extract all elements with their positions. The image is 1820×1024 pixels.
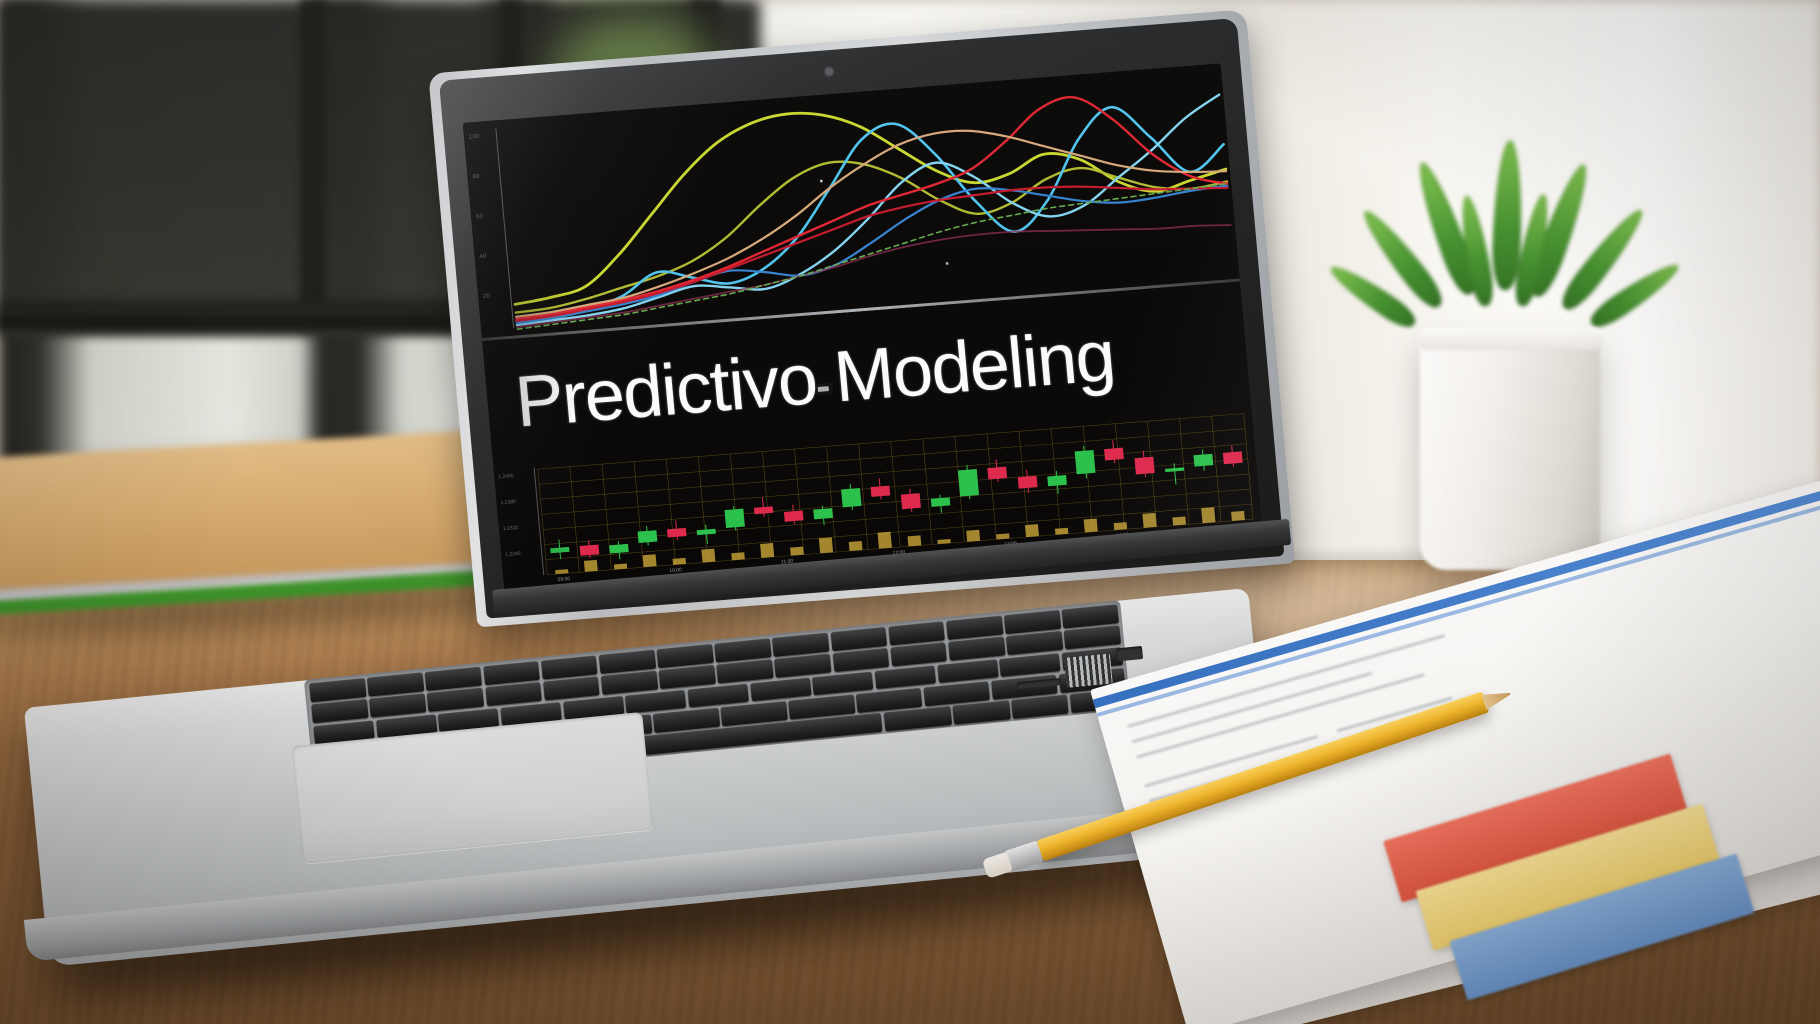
candle-grid-line-v — [538, 469, 547, 575]
candle-grid-line-v — [1147, 421, 1156, 527]
candle-body — [1047, 475, 1067, 486]
line-series-series-tan — [503, 110, 1234, 317]
laptop-screen[interactable]: 100 80 60 40 20 Predictivo Model — [463, 63, 1263, 595]
candle-volume-bar — [790, 547, 804, 556]
keyboard-key[interactable] — [599, 650, 656, 674]
keyboard-key[interactable] — [367, 672, 424, 696]
candle-body — [901, 493, 921, 509]
keyboard-key[interactable] — [541, 655, 598, 679]
candle-grid-line-v — [1244, 414, 1253, 520]
keyboard-key[interactable] — [888, 621, 945, 645]
candle-body — [1104, 448, 1124, 461]
candle-body — [958, 469, 979, 496]
keyboard-key[interactable] — [750, 677, 812, 702]
candle-body — [667, 528, 687, 538]
candle-grid-line-v — [1212, 416, 1221, 522]
keyboard-key[interactable] — [1062, 604, 1119, 628]
candle-body — [987, 467, 1007, 480]
keyboard-key[interactable] — [999, 653, 1061, 678]
candle-volume-bar — [1025, 524, 1039, 537]
candle-volume-bar — [643, 554, 657, 567]
keyboard-key[interactable] — [774, 654, 831, 678]
candle-body — [1223, 451, 1243, 464]
glyph-artifact — [815, 383, 833, 395]
keyboard-key[interactable] — [601, 671, 658, 695]
candle-volume-bar — [1201, 507, 1215, 523]
keyboard-key[interactable] — [883, 706, 952, 731]
keyboard-key[interactable] — [687, 683, 749, 708]
keyboard-key[interactable] — [1011, 695, 1069, 719]
candle-grid-line-v — [827, 446, 836, 552]
candle-volume-bar — [673, 558, 686, 565]
candle-volume-bar — [614, 563, 627, 569]
candle-body — [1134, 457, 1154, 475]
candle-body — [550, 547, 569, 553]
chart-datapoint-dot — [946, 262, 949, 265]
keyboard-key[interactable] — [543, 676, 600, 700]
candle-volume-bar — [731, 552, 745, 560]
keyboard-key[interactable] — [772, 633, 829, 657]
keyboard-key[interactable] — [946, 616, 1003, 640]
keyboard-key[interactable] — [483, 661, 540, 685]
candle-volume-bar — [1172, 517, 1186, 526]
candle-body — [609, 544, 629, 554]
candle-body — [871, 486, 891, 497]
chart-datapoint-dot — [820, 180, 823, 183]
candle-volume-bar — [584, 560, 598, 572]
candle-body — [724, 509, 744, 528]
candle-volume-bar — [1231, 511, 1245, 521]
keyboard-key[interactable] — [714, 638, 771, 662]
candle-grid-line-v — [602, 464, 611, 570]
line-series-series-olive — [505, 131, 1234, 312]
keyboard-key[interactable] — [948, 637, 1005, 661]
candle-grid-line-v — [1083, 426, 1092, 532]
keyboard-key[interactable] — [832, 648, 889, 672]
candle-grid-line-v — [634, 462, 643, 568]
keyboard-key[interactable] — [1006, 631, 1063, 655]
candle-grid-line-v — [666, 459, 675, 565]
candle-grid-line-v — [1115, 424, 1124, 530]
candle-volume-bar — [1084, 518, 1098, 532]
candle-volume-bar — [996, 533, 1009, 539]
candle-body — [580, 545, 600, 556]
keyboard-key[interactable] — [659, 665, 716, 689]
candle-body — [1018, 476, 1038, 489]
candle-x-tick-label: 09:00 — [557, 576, 570, 583]
page-title: Predictivo Modeling — [513, 320, 1117, 439]
keyboard-key[interactable] — [716, 659, 773, 683]
keyboard-key[interactable] — [953, 700, 1011, 724]
candle-body — [841, 488, 861, 507]
keyboard-key[interactable] — [369, 694, 426, 718]
keyboard-key[interactable] — [874, 665, 936, 690]
candle-body — [784, 510, 804, 521]
keyboard-key[interactable] — [656, 644, 713, 668]
candle-grid-line-v — [987, 434, 996, 540]
keyboard-key[interactable] — [1004, 610, 1061, 634]
candle-volume-bar — [966, 530, 980, 542]
candle-body — [1075, 450, 1096, 474]
photo-scene: 100 80 60 40 20 Predictivo Model — [0, 0, 1820, 1024]
candle-body — [697, 529, 716, 535]
candle-grid-line-v — [1179, 419, 1188, 525]
candle-volume-bar — [760, 543, 774, 558]
candle-body — [813, 508, 833, 519]
candle-volume-bar — [819, 537, 833, 553]
keyboard-key[interactable] — [830, 627, 887, 651]
candle-body — [1193, 454, 1213, 467]
candle-volume-bar — [1055, 528, 1068, 535]
usb-port — [1116, 646, 1143, 661]
keyboard-key[interactable] — [890, 642, 947, 666]
candle-grid-line-v — [891, 441, 900, 547]
keyboard-key[interactable] — [311, 699, 368, 723]
keyboard-key[interactable] — [485, 682, 542, 706]
candle-grid-line-v — [730, 454, 739, 560]
keyboard-key[interactable] — [309, 678, 366, 702]
candle-volume-bar — [1142, 513, 1156, 528]
candle-volume-bar — [1114, 522, 1128, 530]
candle-volume-bar — [849, 541, 863, 551]
candle-volume-bar — [878, 532, 892, 549]
candle-grid-line-v — [570, 467, 579, 573]
candle-grid-line-v — [698, 457, 707, 563]
candle-body — [754, 506, 773, 514]
candle-grid-line-v — [794, 449, 803, 555]
candle-wick — [1174, 463, 1176, 484]
keyboard-key[interactable] — [625, 689, 687, 714]
keyboard-key[interactable] — [425, 667, 482, 691]
keyboard-key[interactable] — [937, 659, 999, 684]
candle-grid-line-v — [762, 452, 771, 558]
keyboard-key[interactable] — [427, 688, 484, 712]
candle-body — [931, 497, 951, 507]
candle-volume-bar — [701, 549, 715, 563]
keyboard-key[interactable] — [812, 671, 874, 696]
candle-volume-bar — [907, 535, 921, 546]
candle-body — [638, 530, 658, 543]
candle-grid-line-v — [923, 439, 932, 545]
line-series-series-yellow-green — [500, 80, 1233, 304]
